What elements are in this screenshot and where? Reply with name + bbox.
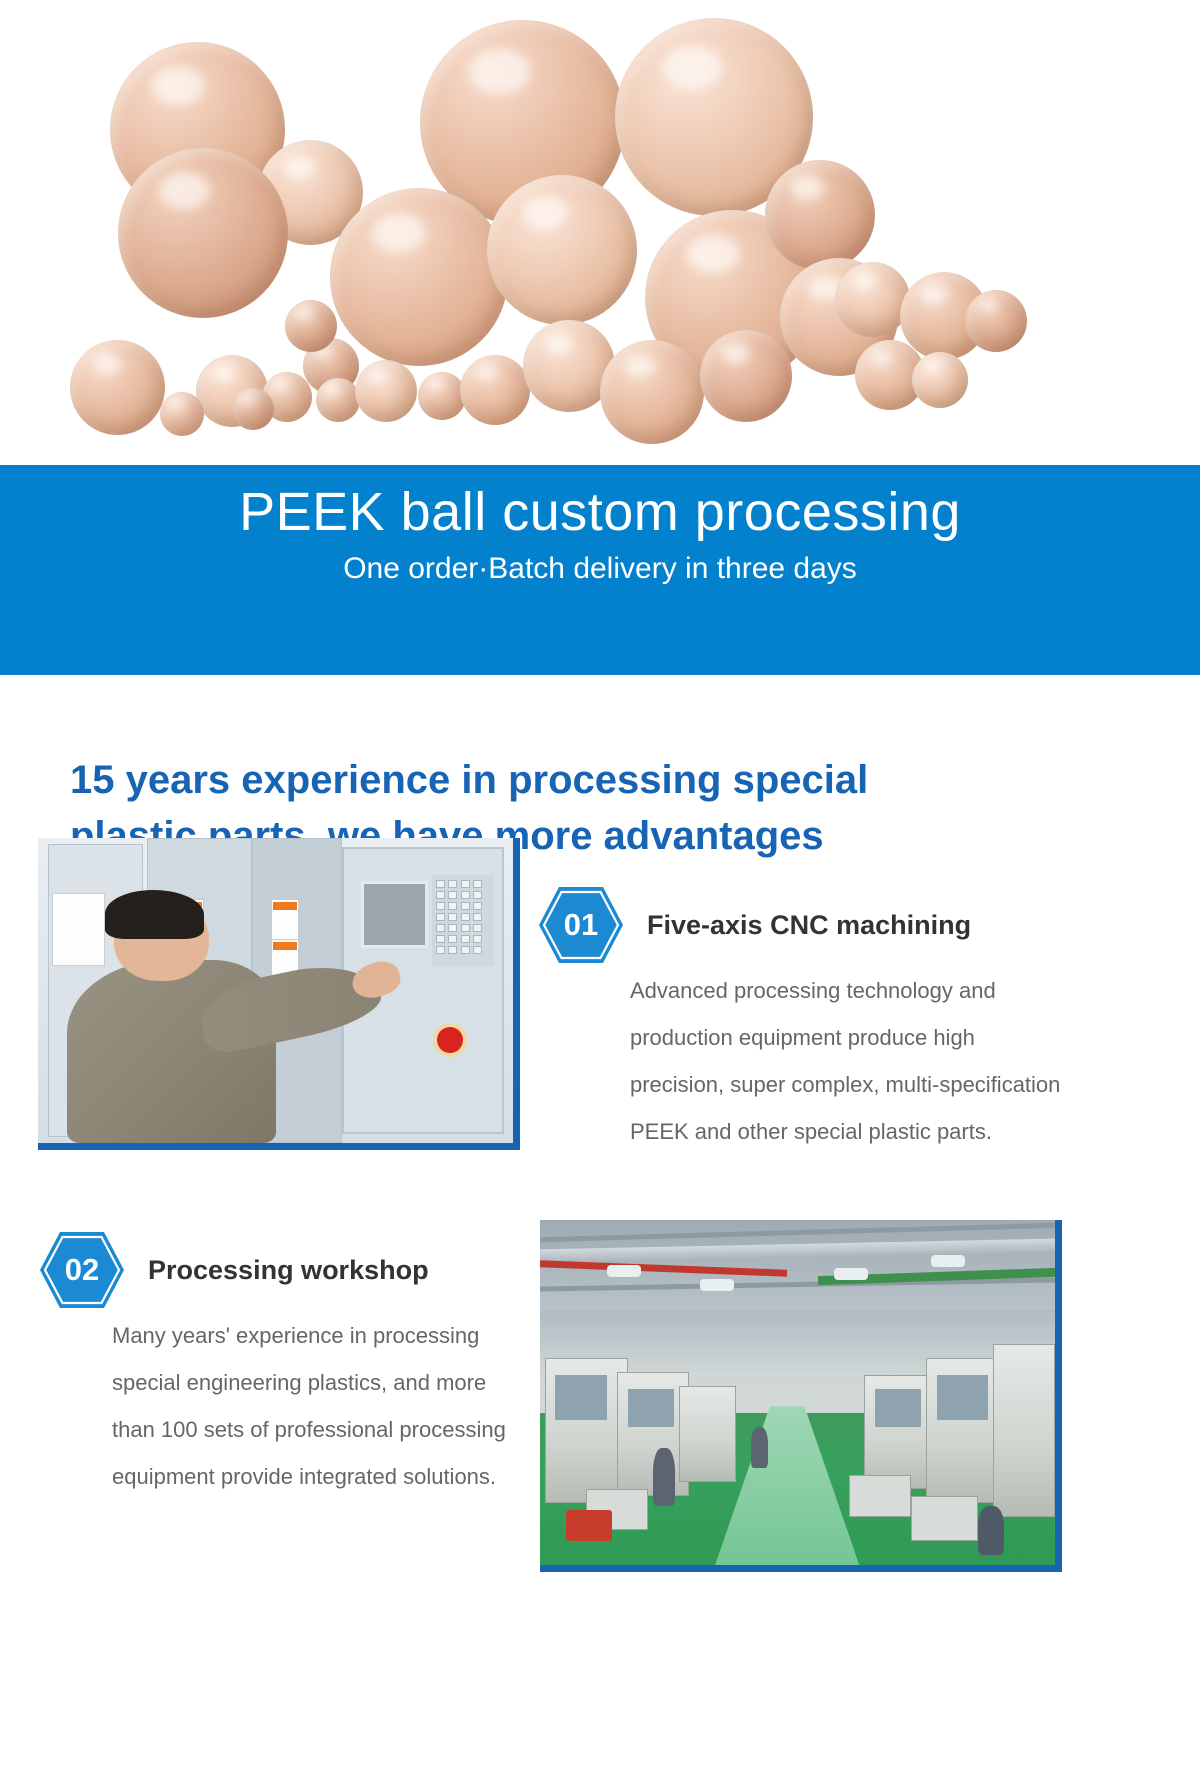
feature-02-photo: [540, 1220, 1062, 1572]
feature-02-number: 02: [38, 1230, 126, 1310]
feature-01-body: Advanced processing technology and produ…: [630, 967, 1062, 1155]
feature-02-badge: 02: [38, 1230, 126, 1310]
feature-02-body: Many years' experience in processing spe…: [112, 1312, 512, 1500]
feature-01-photo: [38, 838, 520, 1150]
peek-balls-image: [0, 0, 1200, 500]
feature-01-number: 01: [537, 885, 625, 965]
cnc-machine-scene: [38, 838, 513, 1143]
hero-section: PEEK ball custom processing One order·Ba…: [0, 0, 1200, 680]
hero-banner: PEEK ball custom processing One order·Ba…: [0, 465, 1200, 675]
feature-01-title: Five-axis CNC machining: [647, 910, 971, 941]
workshop-scene: [540, 1220, 1055, 1565]
product-detail-page: PEEK ball custom processing One order·Ba…: [0, 0, 1200, 1767]
advantages-heading-line-1: 15 years experience in processing specia…: [70, 752, 1070, 808]
feature-01-badge: 01: [537, 885, 625, 965]
banner-subtitle: One order·Batch delivery in three days: [0, 547, 1200, 591]
banner-title: PEEK ball custom processing: [0, 479, 1200, 545]
feature-02-title: Processing workshop: [148, 1255, 429, 1286]
